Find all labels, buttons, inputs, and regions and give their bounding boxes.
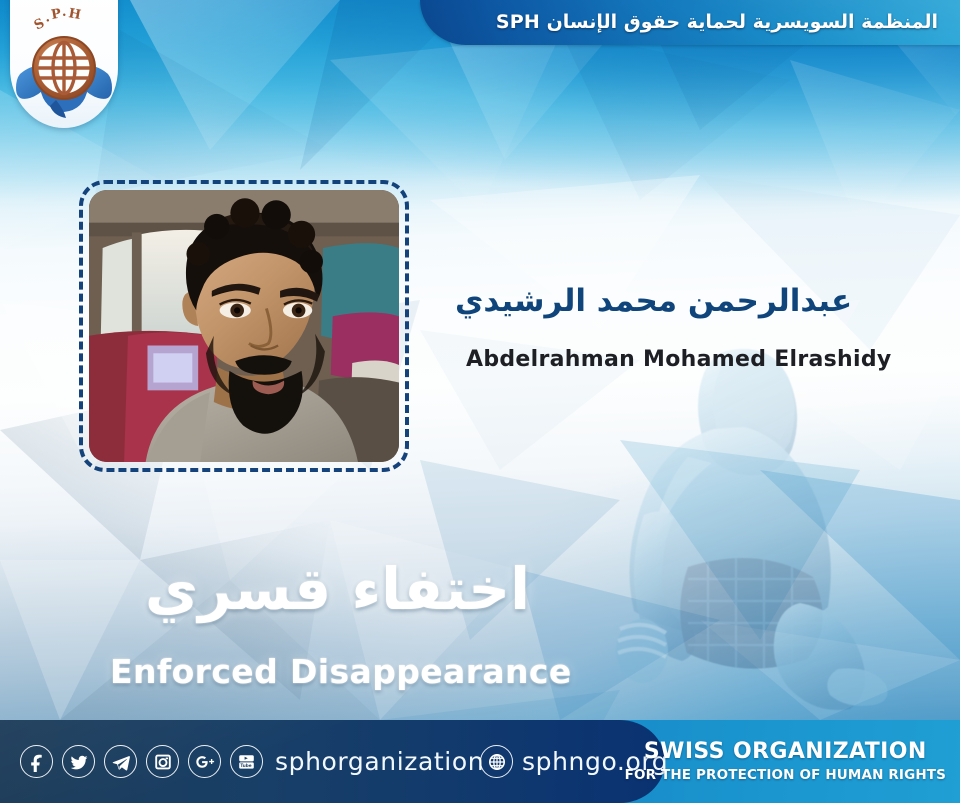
svg-text:P: P: [50, 6, 62, 23]
detainee-silhouette-image: [538, 317, 938, 717]
footer-bar: Tube sphorganization sphngo.org SWISS OR…: [0, 720, 960, 803]
globe-icon: [480, 745, 513, 778]
google-plus-icon[interactable]: [188, 745, 221, 778]
svg-text:.: .: [62, 5, 67, 20]
telegram-icon[interactable]: [104, 745, 137, 778]
subject-photo: [89, 190, 399, 462]
svg-text:H: H: [67, 6, 82, 23]
headline-english: Enforced Disappearance: [110, 652, 530, 691]
organization-tagline: FOR THE PROTECTION OF HUMAN RIGHTS: [625, 767, 946, 784]
twitter-icon[interactable]: [62, 745, 95, 778]
poster-canvas: المنظمة السويسرية لحماية حقوق الإنسان SP…: [0, 0, 960, 803]
svg-text:Tube: Tube: [240, 763, 251, 768]
organization-name: SWISS ORGANIZATION: [644, 739, 927, 764]
header-title: المنظمة السويسرية لحماية حقوق الإنسان SP…: [496, 0, 938, 45]
facebook-icon[interactable]: [20, 745, 53, 778]
subject-name-english: Abdelrahman Mohamed Elrashidy: [466, 347, 936, 372]
sph-logo[interactable]: S . P . H: [10, 0, 118, 128]
organization-block: SWISS ORGANIZATION FOR THE PROTECTION OF…: [625, 720, 946, 803]
subject-name-arabic: عبدالرحمن محمد الرشيدي: [455, 283, 915, 319]
social-links-row: Tube: [20, 720, 263, 803]
youtube-icon[interactable]: Tube: [230, 745, 263, 778]
social-handle[interactable]: sphorganization: [275, 720, 484, 803]
instagram-icon[interactable]: [146, 745, 179, 778]
headline-arabic: اختفاء قسري: [110, 560, 530, 618]
subject-photo-frame: [79, 180, 409, 472]
